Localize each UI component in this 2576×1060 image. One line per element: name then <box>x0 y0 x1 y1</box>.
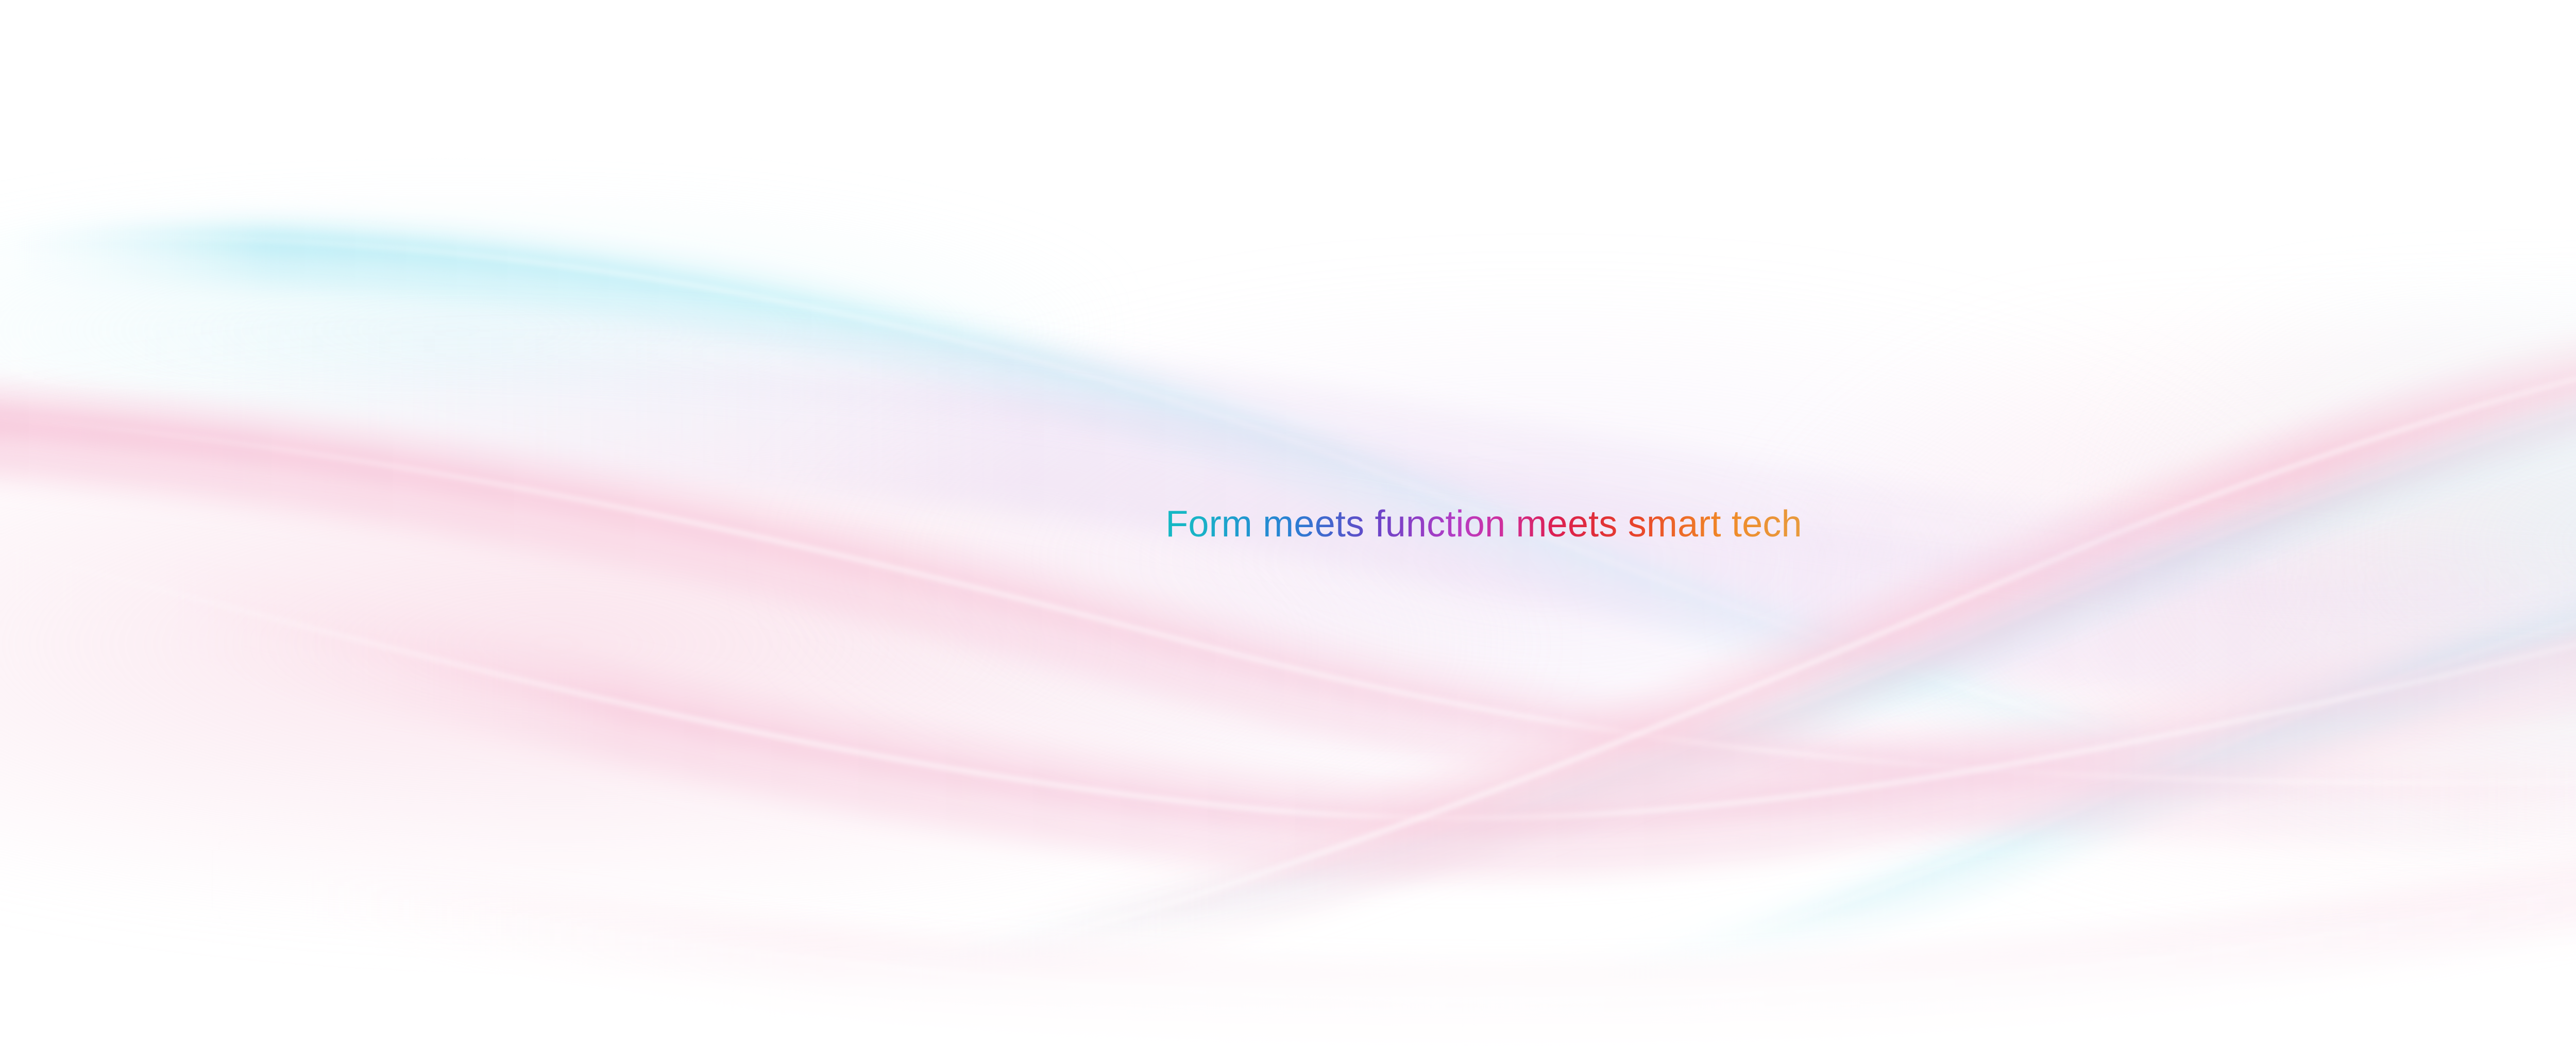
pink-ribbon-lower-left <box>0 414 2576 796</box>
cyan-ribbon-upper-left <box>0 238 2576 876</box>
pink-glow-left <box>0 361 1546 928</box>
top-white-fade <box>0 0 2576 222</box>
cyan-glow-right <box>2087 289 2576 855</box>
lavender-glow-mid <box>773 289 2318 830</box>
pale-ribbon-upper <box>0 344 2576 585</box>
pink-ribbon-mid-arc <box>0 534 2576 830</box>
cyan-glow-left <box>0 196 1108 464</box>
pink-glow-right <box>1752 319 2576 912</box>
hero-headline: Form meets function meets smart tech <box>1165 506 1802 543</box>
cyan-ribbon-descending <box>1468 516 2576 1010</box>
bottom-white-fade <box>0 905 2576 1060</box>
hero-banner: Form meets function meets smart tech <box>0 0 2576 1060</box>
pink-ribbon-right-arc <box>773 299 2576 1020</box>
headline-container: Form meets function meets smart tech <box>0 0 2576 1060</box>
pale-ribbon-bottom <box>206 777 2576 1006</box>
cyan-ribbon-right <box>721 310 2576 1010</box>
